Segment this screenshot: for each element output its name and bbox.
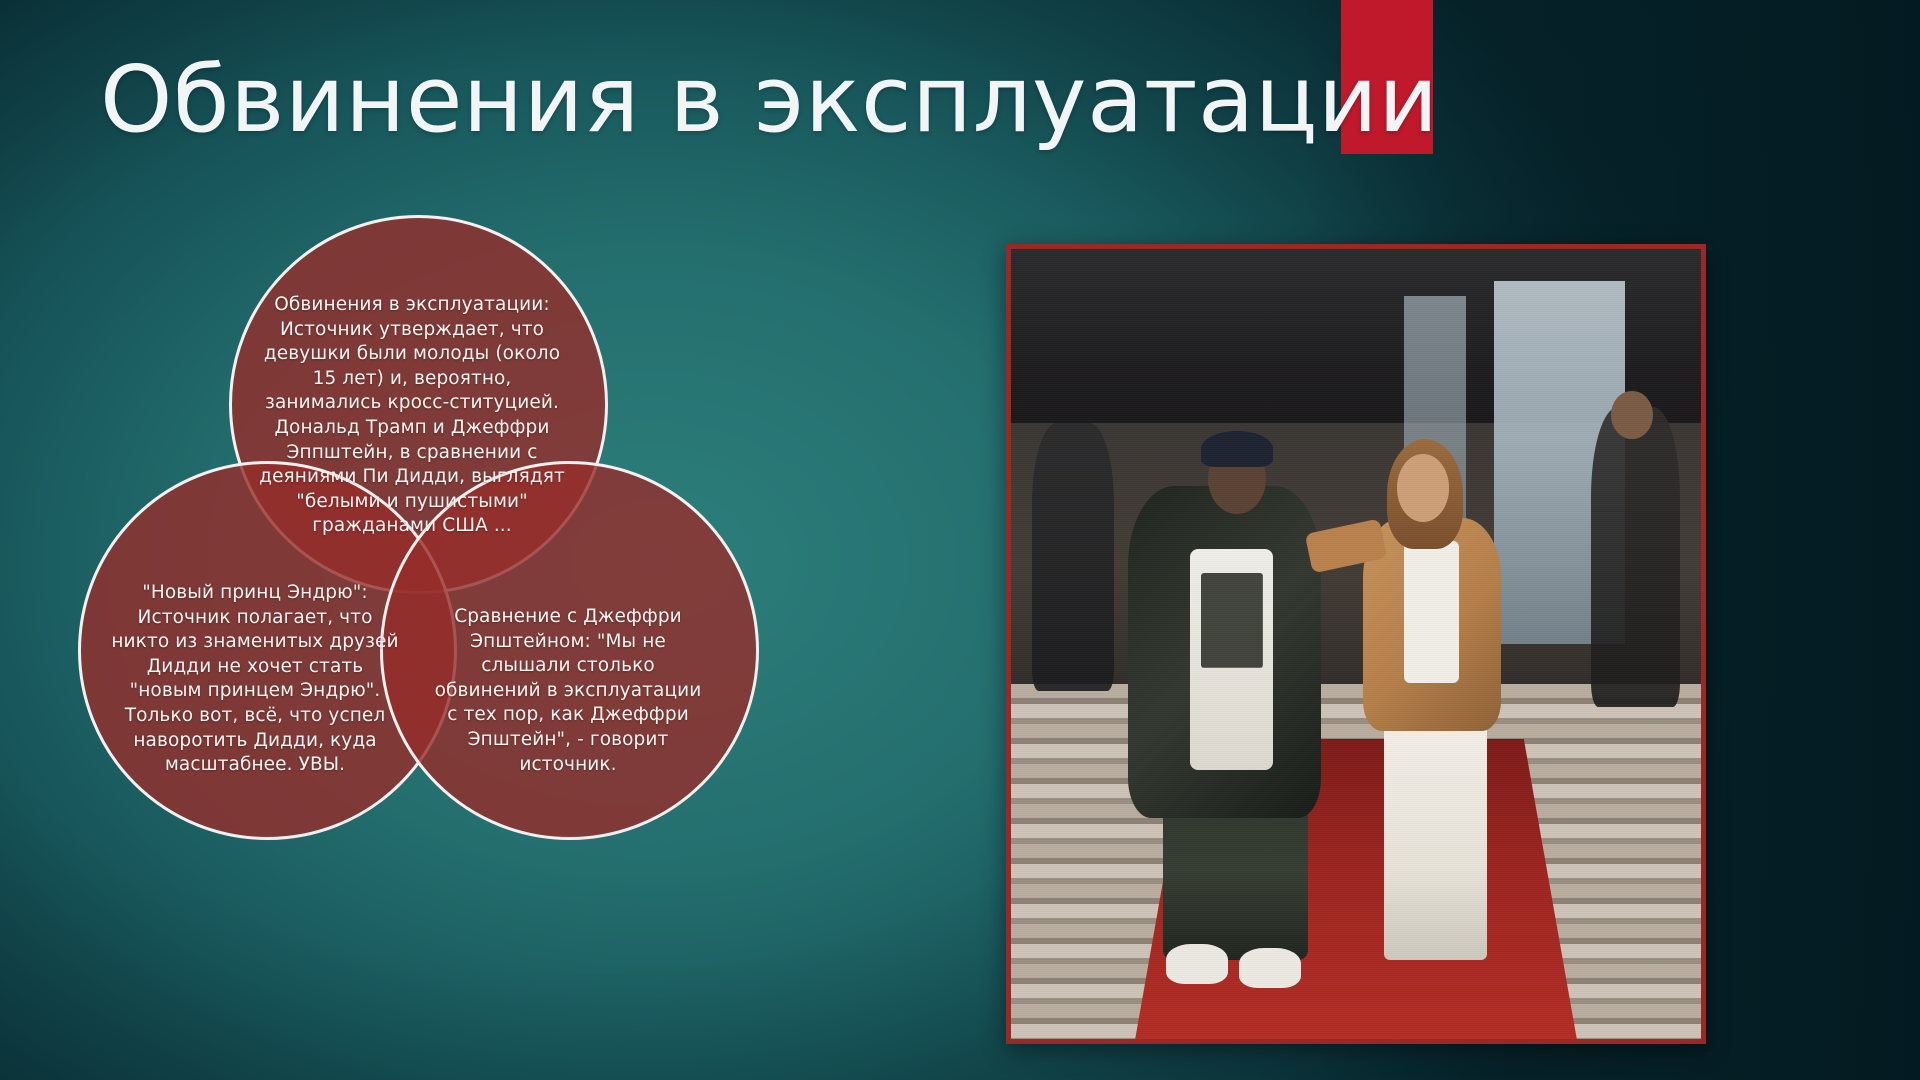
venn-text-bottom-right: Сравнение с Джеффри Эпштейном: "Мы не сл… bbox=[433, 605, 703, 777]
photo-woman-pants bbox=[1384, 707, 1488, 960]
photo-man-jersey-number bbox=[1201, 573, 1263, 668]
photo-man-shoe-left bbox=[1166, 944, 1228, 984]
photo-woman-top bbox=[1404, 541, 1459, 683]
photo-image bbox=[1006, 244, 1706, 1044]
presentation-slide: Обвинения в эксплуатации Обвинения в экс… bbox=[0, 0, 1920, 1080]
photo-woman-head bbox=[1397, 454, 1449, 521]
photo-man-shoe-right bbox=[1239, 948, 1301, 988]
venn-text-bottom-left: "Новый принц Эндрю": Источник полагает, … bbox=[110, 581, 400, 778]
venn-diagram: Обвинения в эксплуатации: Источник утвер… bbox=[78, 215, 758, 835]
page-title: Обвинения в эксплуатации bbox=[100, 52, 1340, 149]
photo-background-person-right-head bbox=[1611, 391, 1652, 438]
photo-man-cap bbox=[1201, 431, 1273, 467]
venn-text-top: Обвинения в эксплуатации: Источник утвер… bbox=[254, 293, 570, 539]
photo-background-person-left bbox=[1032, 423, 1115, 692]
photo-background-person-right bbox=[1591, 407, 1681, 707]
